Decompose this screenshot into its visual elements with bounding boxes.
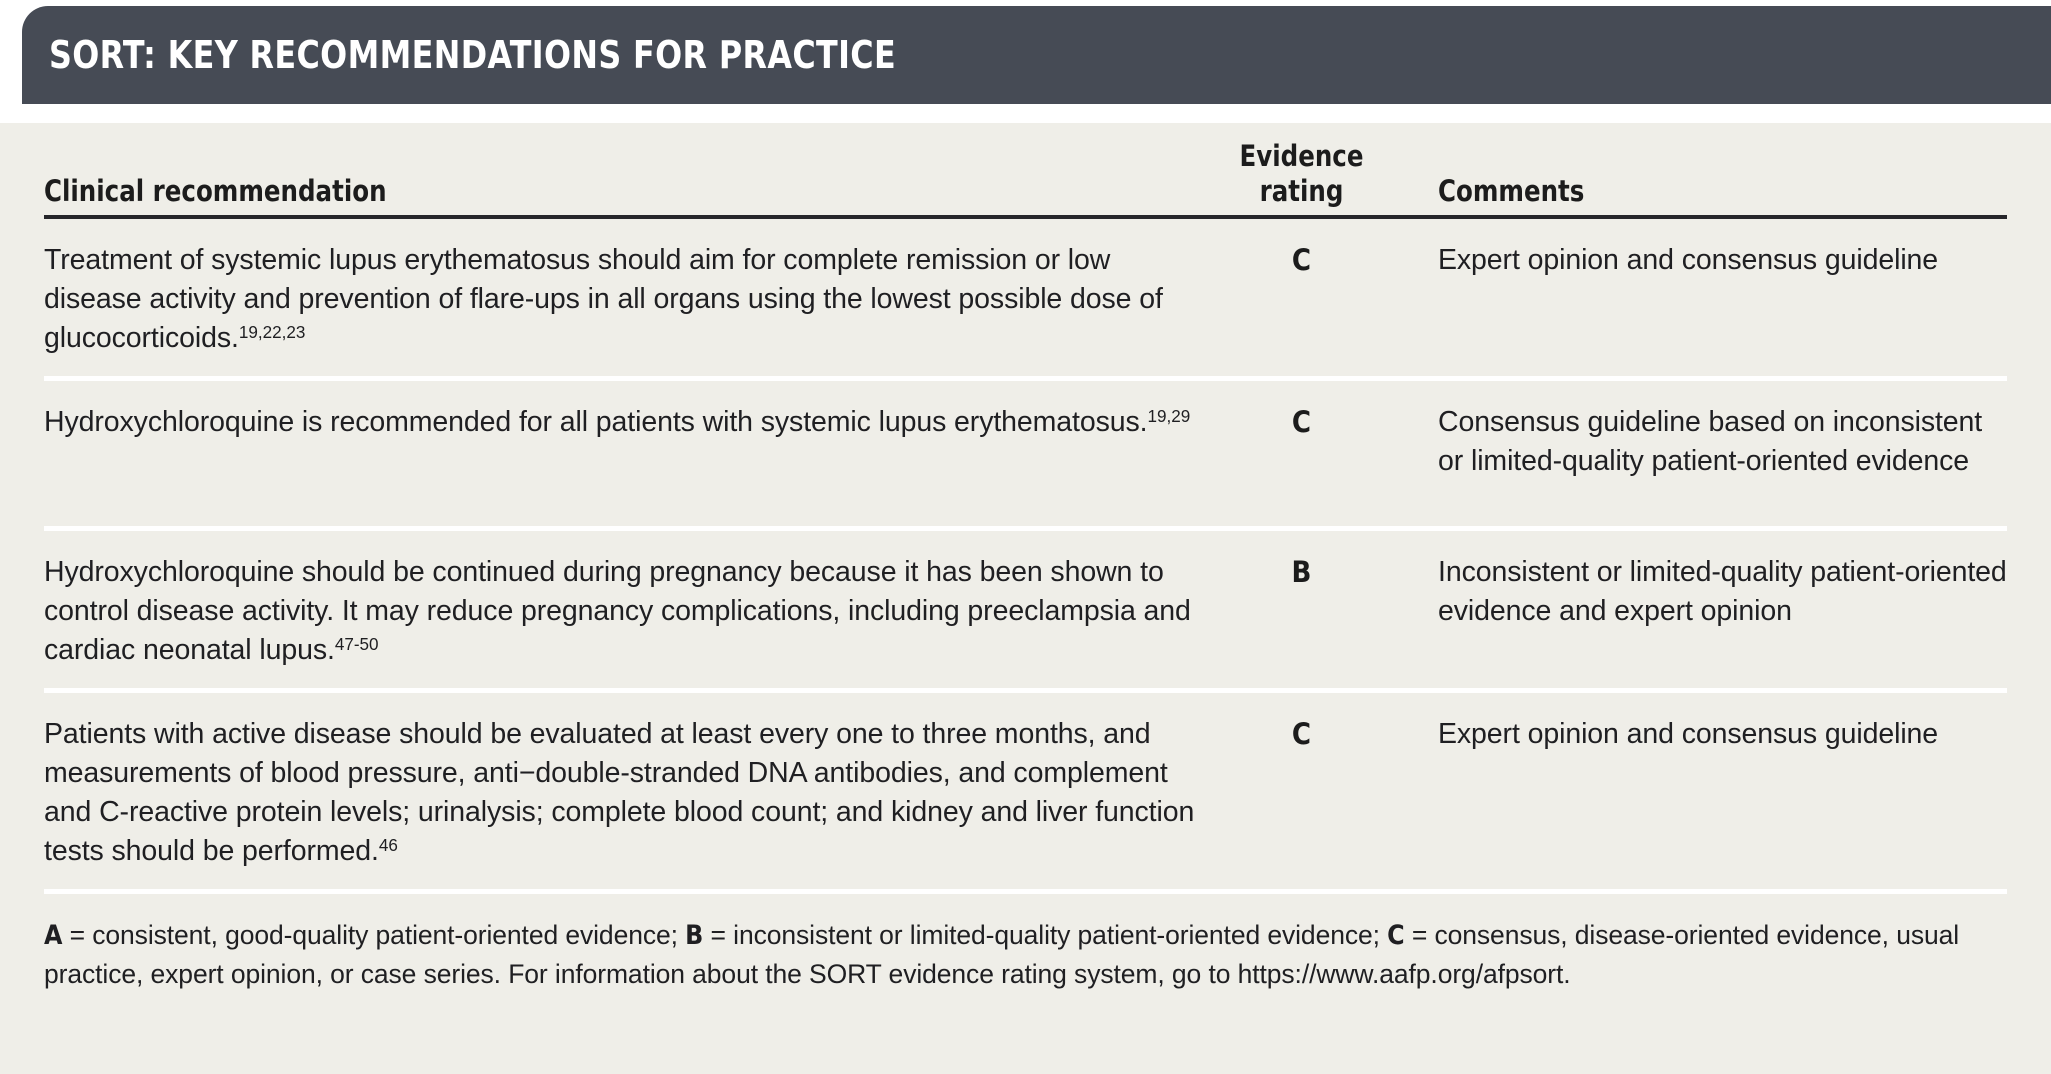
column-header-recommendation: Clinical recommendation bbox=[44, 174, 1214, 209]
column-header-evidence-rating-line1: Evidence bbox=[1219, 139, 1384, 174]
table-row: Treatment of systemic lupus erythematosu… bbox=[44, 219, 2007, 376]
citation-superscript: 47-50 bbox=[335, 635, 379, 654]
table-column-headers: Clinical recommendation Evidence rating … bbox=[44, 123, 2007, 213]
cell-recommendation: Treatment of systemic lupus erythematosu… bbox=[44, 241, 1214, 358]
sort-recommendations-table: SORT: Key Recommendations for Practice C… bbox=[0, 0, 2051, 1074]
cell-evidence-rating: C bbox=[1214, 241, 1389, 280]
grade-a-text: = consistent, good-quality patient-orien… bbox=[62, 920, 685, 950]
cell-evidence-rating: C bbox=[1214, 715, 1389, 754]
recommendation-text: Treatment of systemic lupus erythematosu… bbox=[44, 244, 1163, 354]
column-header-recommendation-label: Clinical recommendation bbox=[44, 174, 1144, 209]
column-header-evidence-rating: Evidence rating bbox=[1214, 139, 1389, 209]
table-footnote: A = consistent, good-quality patient-ori… bbox=[44, 894, 2007, 993]
page-title: SORT: Key Recommendations for Practice bbox=[49, 33, 896, 77]
citation-superscript: 19,29 bbox=[1148, 407, 1191, 426]
cell-recommendation: Patients with active disease should be e… bbox=[44, 715, 1214, 871]
cell-evidence-rating: C bbox=[1214, 403, 1389, 442]
cell-comments: Inconsistent or limited-quality patient-… bbox=[1438, 553, 2007, 631]
citation-superscript: 19,22,23 bbox=[239, 323, 306, 342]
table-body: Clinical recommendation Evidence rating … bbox=[0, 123, 2051, 1074]
cell-comments: Expert opinion and consensus guideline bbox=[1438, 241, 2007, 280]
column-header-comments-label: Comments bbox=[1438, 174, 1973, 209]
cell-recommendation: Hydroxychloroquine should be continued d… bbox=[44, 553, 1214, 670]
recommendation-text: Patients with active disease should be e… bbox=[44, 718, 1194, 867]
cell-evidence-rating: B bbox=[1214, 553, 1389, 592]
grade-a-label: A bbox=[44, 920, 62, 951]
recommendation-text: Hydroxychloroquine is recommended for al… bbox=[44, 406, 1148, 438]
cell-recommendation: Hydroxychloroquine is recommended for al… bbox=[44, 403, 1214, 442]
grade-c-label: C bbox=[1387, 920, 1404, 951]
cell-comments: Consensus guideline based on inconsisten… bbox=[1438, 403, 2007, 481]
citation-superscript: 46 bbox=[379, 836, 398, 855]
column-header-evidence-rating-line2: rating bbox=[1219, 174, 1384, 209]
recommendation-text: Hydroxychloroquine should be continued d… bbox=[44, 556, 1191, 666]
grade-b-label: B bbox=[685, 920, 703, 951]
grade-b-text: = inconsistent or limited-quality patien… bbox=[703, 920, 1387, 950]
table-row: Patients with active disease should be e… bbox=[44, 693, 2007, 889]
table-row: Hydroxychloroquine should be continued d… bbox=[44, 531, 2007, 688]
table-title-bar: SORT: Key Recommendations for Practice bbox=[22, 6, 2051, 104]
column-header-comments: Comments bbox=[1438, 174, 2007, 209]
cell-comments: Expert opinion and consensus guideline bbox=[1438, 715, 2007, 754]
table-row: Hydroxychloroquine is recommended for al… bbox=[44, 381, 2007, 526]
